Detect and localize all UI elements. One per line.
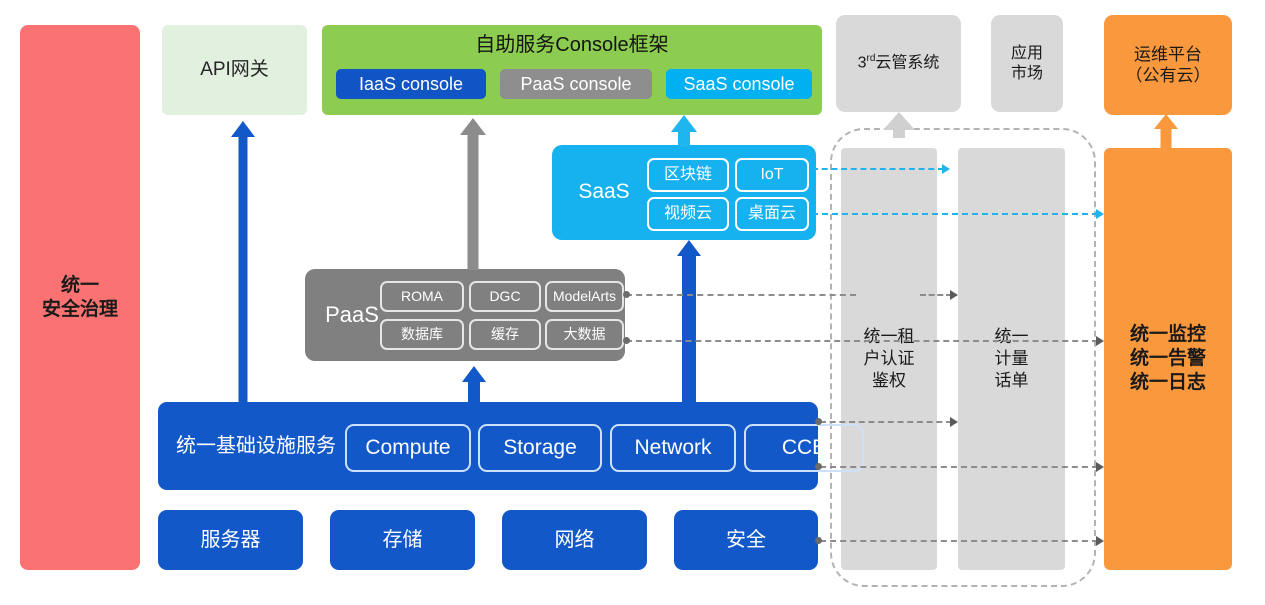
api-gateway-box[interactable]: API网关 bbox=[162, 25, 307, 115]
unified-security-governance-pillar[interactable]: 统一 安全治理 bbox=[20, 25, 140, 570]
connector-paas-to-auth-dot bbox=[623, 291, 630, 298]
connector-saas-to-metering bbox=[812, 168, 944, 170]
paas-chip-dgc[interactable]: DGC bbox=[469, 281, 541, 312]
connector-paas-to-auth bbox=[626, 294, 856, 296]
connector-infra-to-metering bbox=[820, 421, 952, 423]
metering-line3: 话单 bbox=[958, 370, 1065, 392]
paas-chip-database[interactable]: 数据库 bbox=[380, 319, 464, 350]
connector-saas-to-ops bbox=[812, 213, 1098, 215]
connector-auth-to-metering-top bbox=[920, 294, 952, 296]
arrow-to-ops-platform bbox=[1153, 114, 1179, 149]
arrow-infra-to-paas bbox=[461, 366, 487, 404]
connector-infra-to-ops-dot bbox=[815, 463, 822, 470]
connector-saas-to-ops-arrowhead bbox=[1096, 209, 1104, 219]
arrow-to-third-party-cloud-management bbox=[882, 112, 916, 138]
paas-label: PaaS bbox=[313, 269, 391, 361]
arrow-saas-to-console bbox=[670, 115, 698, 147]
connector-auth-to-metering-top-arrowhead bbox=[950, 290, 958, 300]
saas-chip-desktop-cloud[interactable]: 桌面云 bbox=[735, 197, 809, 231]
saas-console-chip[interactable]: SaaS console bbox=[666, 69, 812, 99]
ops-platform-public-cloud-box[interactable]: 运维平台 （公有云） bbox=[1104, 15, 1232, 115]
security-pillar-line2: 安全治理 bbox=[42, 298, 118, 322]
auth-line2: 户认证 bbox=[841, 348, 937, 370]
saas-chip-iot[interactable]: IoT bbox=[735, 158, 809, 192]
connector-paas-to-ops-dot bbox=[623, 337, 630, 344]
app-market-line2: 市场 bbox=[1011, 64, 1043, 84]
connector-infra-to-metering-arrowhead bbox=[950, 417, 958, 427]
connector-infra-to-metering-dot bbox=[815, 418, 822, 425]
connector-base-to-ops bbox=[820, 540, 1098, 542]
arrow-infra-to-api-gateway bbox=[230, 121, 256, 405]
app-market-box[interactable]: 应用 市场 bbox=[991, 15, 1063, 112]
ops-bottom-line1: 统一监控 bbox=[1130, 323, 1206, 347]
paas-chip-bigdata[interactable]: 大数据 bbox=[545, 319, 624, 350]
console-frame-title: 自助服务Console框架 bbox=[322, 33, 822, 58]
arrow-paas-to-console bbox=[459, 118, 487, 270]
connector-paas-to-ops bbox=[626, 340, 1098, 342]
app-market-line1: 应用 bbox=[1011, 44, 1043, 64]
saas-block[interactable]: SaaS 区块链 IoT 视频云 桌面云 bbox=[552, 145, 816, 240]
connector-infra-to-ops-arrowhead bbox=[1096, 462, 1104, 472]
connector-paas-to-ops-arrowhead bbox=[1096, 336, 1104, 346]
connector-saas-to-metering-arrowhead bbox=[942, 164, 950, 174]
ops-top-line2: （公有云） bbox=[1126, 65, 1211, 86]
unified-infrastructure-service-bar[interactable]: 统一基础设施服务 Compute Storage Network CCE bbox=[158, 402, 818, 490]
paas-chip-modelarts[interactable]: ModelArts bbox=[545, 281, 624, 312]
paas-block[interactable]: PaaS ROMA DGC ModelArts 数据库 缓存 大数据 bbox=[305, 269, 625, 361]
unified-tenant-auth-column[interactable]: 统一租 户认证 鉴权 bbox=[841, 148, 937, 570]
infra-chip-storage[interactable]: Storage bbox=[478, 424, 602, 472]
ops-bottom-line3: 统一日志 bbox=[1130, 371, 1206, 395]
ops-bottom-line2: 统一告警 bbox=[1130, 347, 1206, 371]
infra-chip-cce[interactable]: CCE bbox=[744, 424, 864, 472]
arrow-infra-to-saas bbox=[675, 240, 703, 404]
connector-base-to-ops-arrowhead bbox=[1096, 536, 1104, 546]
saas-chip-blockchain[interactable]: 区块链 bbox=[647, 158, 729, 192]
infra-chip-network[interactable]: Network bbox=[610, 424, 736, 472]
auth-line1: 统一租 bbox=[841, 326, 937, 348]
iaas-console-chip[interactable]: IaaS console bbox=[336, 69, 486, 99]
architecture-diagram: 统一 安全治理 API网关 自助服务Console框架 IaaS console… bbox=[0, 0, 1265, 605]
paas-chip-roma[interactable]: ROMA bbox=[380, 281, 464, 312]
connector-infra-to-ops bbox=[820, 466, 1098, 468]
metering-line1: 统一 bbox=[958, 326, 1065, 348]
connector-base-to-ops-dot bbox=[815, 537, 822, 544]
paas-console-chip[interactable]: PaaS console bbox=[500, 69, 652, 99]
third-party-cloud-management-box[interactable]: 3rd云管系统 bbox=[836, 15, 961, 112]
infra-chip-compute[interactable]: Compute bbox=[345, 424, 471, 472]
api-gateway-label: API网关 bbox=[200, 58, 269, 82]
self-service-console-frame[interactable]: 自助服务Console框架 IaaS console PaaS console … bbox=[322, 25, 822, 115]
paas-chip-cache[interactable]: 缓存 bbox=[469, 319, 541, 350]
metering-line2: 计量 bbox=[958, 348, 1065, 370]
base-box-network[interactable]: 网络 bbox=[502, 510, 647, 570]
saas-chip-video-cloud[interactable]: 视频云 bbox=[647, 197, 729, 231]
unified-metering-billing-column[interactable]: 统一 计量 话单 bbox=[958, 148, 1065, 570]
base-box-server[interactable]: 服务器 bbox=[158, 510, 303, 570]
infrastructure-label: 统一基础设施服务 bbox=[176, 402, 336, 490]
base-box-storage[interactable]: 存储 bbox=[330, 510, 475, 570]
saas-label: SaaS bbox=[564, 145, 644, 240]
third-party-label: 3rd云管系统 bbox=[858, 53, 940, 73]
security-pillar-line1: 统一 bbox=[42, 274, 118, 298]
base-box-security[interactable]: 安全 bbox=[674, 510, 818, 570]
unified-monitoring-alarm-log-panel[interactable]: 统一监控 统一告警 统一日志 bbox=[1104, 148, 1232, 570]
auth-line3: 鉴权 bbox=[841, 370, 937, 392]
ops-top-line1: 运维平台 bbox=[1126, 44, 1211, 65]
